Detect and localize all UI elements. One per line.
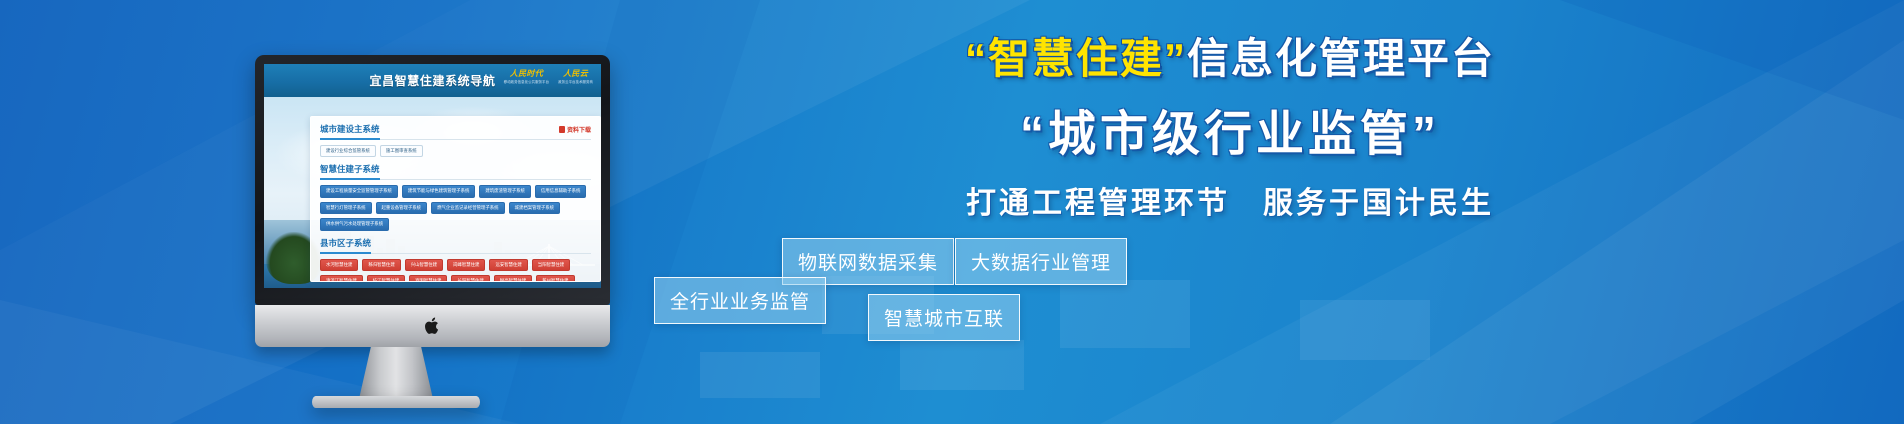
system-link[interactable]: 水河智慧住建 [320, 259, 358, 271]
monitor-bezel: 宜昌智慧住建系统导航 人民时代 移动政务信息化公共服务平台 人民云 政务云平台技… [255, 55, 610, 305]
system-link[interactable]: 蕉州智慧住建 [536, 275, 574, 282]
download-label: 资料下载 [567, 125, 591, 134]
system-link[interactable]: 远安智慧住建 [489, 259, 527, 271]
headline-line-3-subtitle: 打通工程管理环节 服务于国计民生 [640, 178, 1820, 222]
section-header-main: 城市建设主系统 资料下载 [320, 123, 591, 140]
system-link[interactable]: 长阳智慧住建 [451, 275, 489, 282]
system-link[interactable]: 枝江智慧住建 [367, 275, 405, 282]
section-title-county-systems: 县市区子系统 [320, 237, 371, 254]
section-title-smart-sub-systems: 智慧住建子系统 [320, 163, 380, 180]
chip-row-main-systems: 建设行业综合监管系统 施工图审查系统 [320, 145, 591, 157]
headline-line-2: “城市级行业监管” [640, 94, 1820, 164]
ghost-block-5 [700, 352, 820, 398]
site-header: 宜昌智慧住建系统导航 人民时代 移动政务信息化公共服务平台 人民云 政务云平台技… [264, 64, 601, 97]
system-link[interactable]: 建设工程质量安全监管管理子系统 [320, 185, 398, 197]
system-link[interactable]: 施工图审查系统 [380, 145, 423, 157]
monitor-screen: 宜昌智慧住建系统导航 人民时代 移动政务信息化公共服务平台 人民云 政务云平台技… [264, 64, 601, 288]
system-link[interactable]: 建设行业综合监管系统 [320, 145, 376, 157]
logo-subtext: 移动政务信息化公共服务平台 [504, 80, 549, 84]
system-link[interactable]: 秭归智慧住建 [362, 259, 400, 271]
ghost-block-4 [1300, 300, 1430, 360]
logo-text: 人民时代 [504, 70, 549, 78]
logo-text: 人民云 [558, 70, 593, 78]
system-navigation-card: 城市建设主系统 资料下载 建设行业综合监管系统 施工图审查系统 智慧住建子系统 [310, 116, 601, 282]
promo-banner: 宜昌智慧住建系统导航 人民时代 移动政务信息化公共服务平台 人民云 政务云平台技… [0, 0, 1904, 424]
system-link[interactable]: 起重设备管理子系统 [376, 202, 428, 214]
tag-all-industry-supervision[interactable]: 全行业业务监管 [654, 277, 826, 324]
system-link[interactable]: 建筑节能与绿色建筑管理子系统 [402, 185, 475, 197]
system-link[interactable]: 智慧行灯管理子系统 [320, 202, 372, 214]
tag-smart-city-interconnect[interactable]: 智慧城市互联 [868, 294, 1020, 341]
section-header-sub: 智慧住建子系统 [320, 163, 591, 180]
headline-quoted-phrase: “智慧住建” [965, 35, 1187, 82]
system-link[interactable]: 燃气企业监记录经营管理子系统 [431, 202, 504, 214]
system-link[interactable]: 建筑废渣管理子系统 [479, 185, 531, 197]
section-header-county: 县市区子系统 [320, 237, 591, 254]
system-link[interactable]: 当阳智慧住建 [532, 259, 570, 271]
logo-renmin-yun: 人民云 政务云平台技术服务商 [558, 70, 593, 84]
imac-device: 宜昌智慧住建系统导航 人民时代 移动政务信息化公共服务平台 人民云 政务云平台技… [182, 55, 610, 360]
logo-subtext: 政务云平台技术服务商 [558, 80, 593, 84]
system-link[interactable]: 供水供气污水处理管理子系统 [320, 218, 389, 230]
section-title-main-systems: 城市建设主系统 [320, 123, 380, 140]
logo-renmin-shidai: 人民时代 移动政务信息化公共服务平台 [504, 70, 549, 84]
headline-line-1: “智慧住建”信息化管理平台 [640, 36, 1820, 82]
system-link[interactable]: 兴山智慧住建 [405, 259, 443, 271]
system-link[interactable]: 城建档案管理子系统 [509, 202, 561, 214]
system-link[interactable]: 清流江智慧住建 [320, 275, 363, 282]
monitor-chin [255, 305, 610, 347]
system-link[interactable]: 糍亭智慧住建 [494, 275, 532, 282]
system-link[interactable]: 岗峰智慧住建 [447, 259, 485, 271]
download-icon [559, 126, 565, 133]
system-link[interactable]: 信用信息辅助子系统 [535, 185, 587, 197]
partner-logos: 人民时代 移动政务信息化公共服务平台 人民云 政务云平台技术服务商 [504, 70, 593, 84]
chip-row-county-systems: 水河智慧住建 秭归智慧住建 兴山智慧住建 岗峰智慧住建 远安智慧住建 当阳智慧住… [320, 259, 591, 282]
site-title: 宜昌智慧住建系统导航 [369, 72, 495, 89]
apple-logo-icon [424, 316, 441, 336]
ghost-block-3 [900, 340, 1024, 390]
download-link[interactable]: 资料下载 [559, 125, 591, 134]
monitor-stand-foot [312, 396, 480, 408]
system-link[interactable]: 宵明智慧住建 [409, 275, 447, 282]
headline-rest-phrase: 信息化管理平台 [1187, 35, 1495, 82]
headline-block: “智慧住建”信息化管理平台 “城市级行业监管” 打通工程管理环节 服务于国计民生 [640, 36, 1820, 222]
ghost-block-2 [1060, 280, 1190, 348]
monitor-stand-neck [359, 347, 433, 399]
tag-bigdata-industry-management[interactable]: 大数据行业管理 [955, 238, 1127, 285]
chip-row-sub-systems: 建设工程质量安全监管管理子系统 建筑节能与绿色建筑管理子系统 建筑废渣管理子系统… [320, 185, 591, 230]
